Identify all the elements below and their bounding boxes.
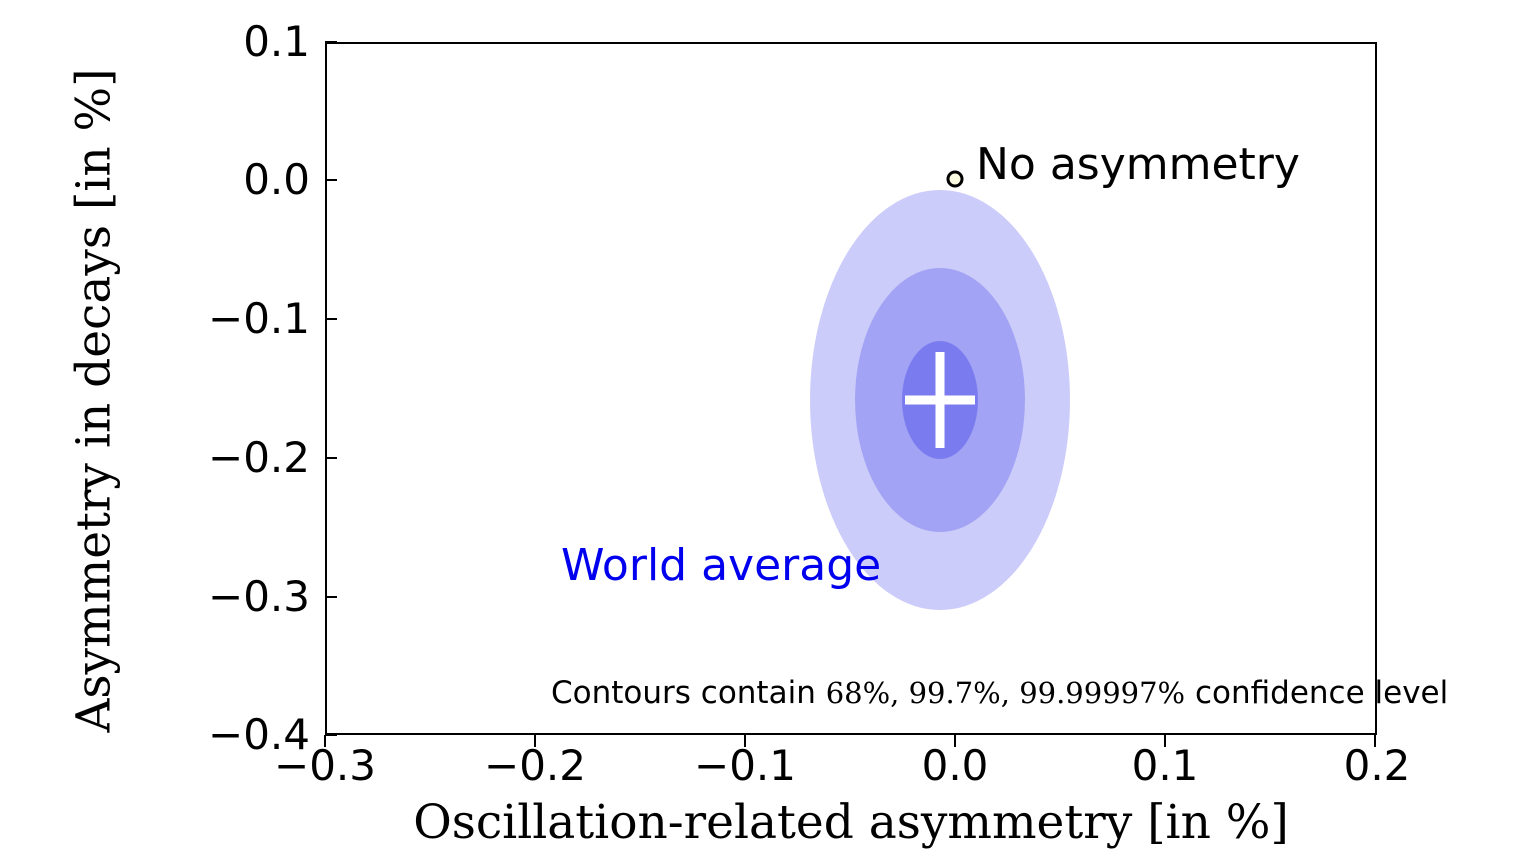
x-ticklabel-5: 0.2 xyxy=(1344,745,1411,787)
y-ticklabel-1: −0.3 xyxy=(208,576,310,618)
x-ticklabel-1: −0.2 xyxy=(484,745,586,787)
y-tick-0 xyxy=(325,734,337,736)
best-fit-cross-horizontal xyxy=(905,396,975,405)
y-ticklabel-0: −0.4 xyxy=(208,714,310,756)
y-tick-2 xyxy=(325,457,337,459)
y-tick-1 xyxy=(325,596,337,598)
no-asymmetry-label: No asymmetry xyxy=(976,143,1300,187)
y-axis-label: Asymmetry in decays [in %] xyxy=(67,41,122,761)
x-ticklabel-3: 0.0 xyxy=(922,745,989,787)
contour-caption: Contours contain 68%, 99.7%, 99.99997% c… xyxy=(551,678,1448,709)
y-ticklabel-4: 0.0 xyxy=(243,159,310,201)
y-tick-4 xyxy=(325,179,337,181)
figure-canvas: No asymmetry World average Contours cont… xyxy=(0,0,1536,864)
y-ticklabel-5: 0.1 xyxy=(243,21,310,63)
caption-level-3: 99.99997% xyxy=(1019,676,1185,710)
caption-suffix: confidence level xyxy=(1185,675,1448,711)
caption-prefix: Contours contain xyxy=(551,675,826,711)
caption-sep-2: , xyxy=(1001,676,1019,710)
caption-level-2: 99.7% xyxy=(909,676,1001,710)
caption-sep-1: , xyxy=(890,676,908,710)
x-ticklabel-4: 0.1 xyxy=(1132,745,1199,787)
caption-level-1: 68% xyxy=(826,676,890,710)
y-tick-3 xyxy=(325,318,337,320)
x-ticklabel-2: −0.1 xyxy=(694,745,796,787)
y-ticklabel-3: −0.1 xyxy=(208,298,310,340)
world-average-label: World average xyxy=(561,544,881,588)
x-axis-label: Oscillation-related asymmetry [in %] xyxy=(325,795,1377,850)
y-ticklabel-2: −0.2 xyxy=(208,437,310,479)
no-asymmetry-marker xyxy=(947,171,964,188)
y-tick-5 xyxy=(325,41,337,43)
